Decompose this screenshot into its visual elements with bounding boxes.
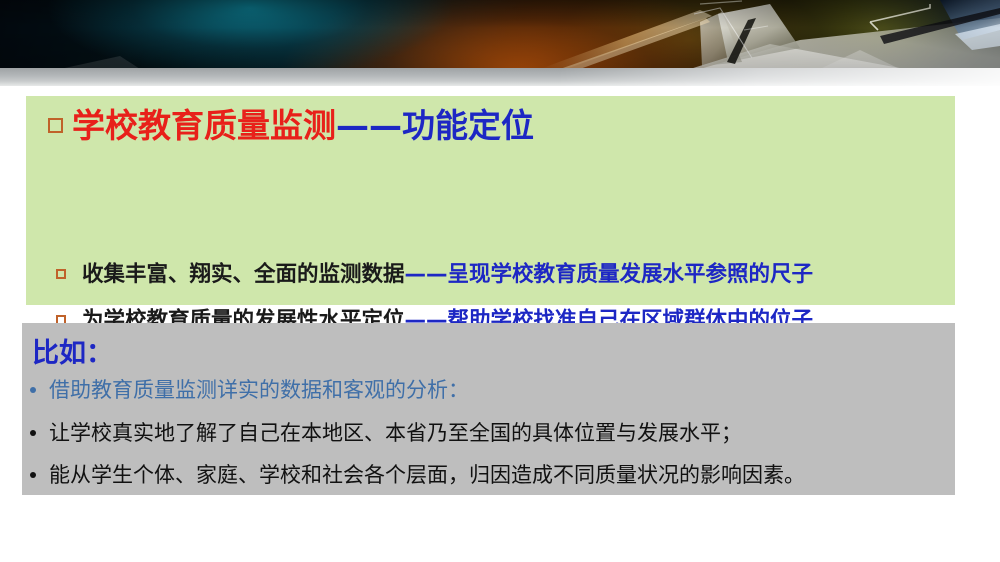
gray-panel-row: 借助教育质量监测详实的数据和客观的分析： bbox=[30, 375, 469, 405]
row-lead-text: 收集丰富、翔实、全面的监测数据 bbox=[82, 262, 405, 287]
gray-panel-row: 让学校真实地了解了自己在本地区、本省乃至全国的具体位置与发展水平； bbox=[30, 418, 742, 448]
panel-title: 学校教育质量监测——功能定位 bbox=[48, 104, 534, 148]
presentation-slide: 学校教育质量监测——功能定位 收集丰富、翔实、全面的监测数据——呈现学校教育质量… bbox=[0, 0, 1000, 562]
panel-title-main: 学校教育质量监测 bbox=[72, 106, 336, 145]
dot-bullet-icon bbox=[30, 387, 36, 393]
square-bullet-icon bbox=[56, 269, 66, 279]
slide-header-banner bbox=[0, 0, 1000, 69]
dot-bullet-icon bbox=[30, 430, 36, 436]
green-content-panel: 学校教育质量监测——功能定位 收集丰富、翔实、全面的监测数据——呈现学校教育质量… bbox=[26, 96, 955, 305]
banner-vignette bbox=[0, 0, 1000, 69]
green-panel-row: 收集丰富、翔实、全面的监测数据——呈现学校教育质量发展水平参照的尺子 bbox=[56, 260, 813, 290]
gray-row-text: 让学校真实地了解了自己在本地区、本省乃至全国的具体位置与发展水平； bbox=[49, 421, 742, 445]
gray-row-text: 借助教育质量监测详实的数据和客观的分析： bbox=[49, 378, 469, 402]
gray-panel-heading: 比如： bbox=[32, 331, 113, 370]
panel-title-suffix: ——功能定位 bbox=[336, 106, 534, 145]
gray-panel-row: 能从学生个体、家庭、学校和社会各个层面，归因造成不同质量状况的影响因素。 bbox=[30, 460, 805, 490]
gray-row-text: 能从学生个体、家庭、学校和社会各个层面，归因造成不同质量状况的影响因素。 bbox=[49, 463, 805, 487]
row-tail-text: ——呈现学校教育质量发展水平参照的尺子 bbox=[405, 262, 814, 287]
gray-content-panel: 比如： 借助教育质量监测详实的数据和客观的分析： 让学校真实地了解了自己在本地区… bbox=[22, 323, 955, 495]
dot-bullet-icon bbox=[30, 472, 36, 478]
header-gray-band-highlight bbox=[560, 68, 1000, 86]
square-bullet-icon bbox=[48, 118, 63, 133]
